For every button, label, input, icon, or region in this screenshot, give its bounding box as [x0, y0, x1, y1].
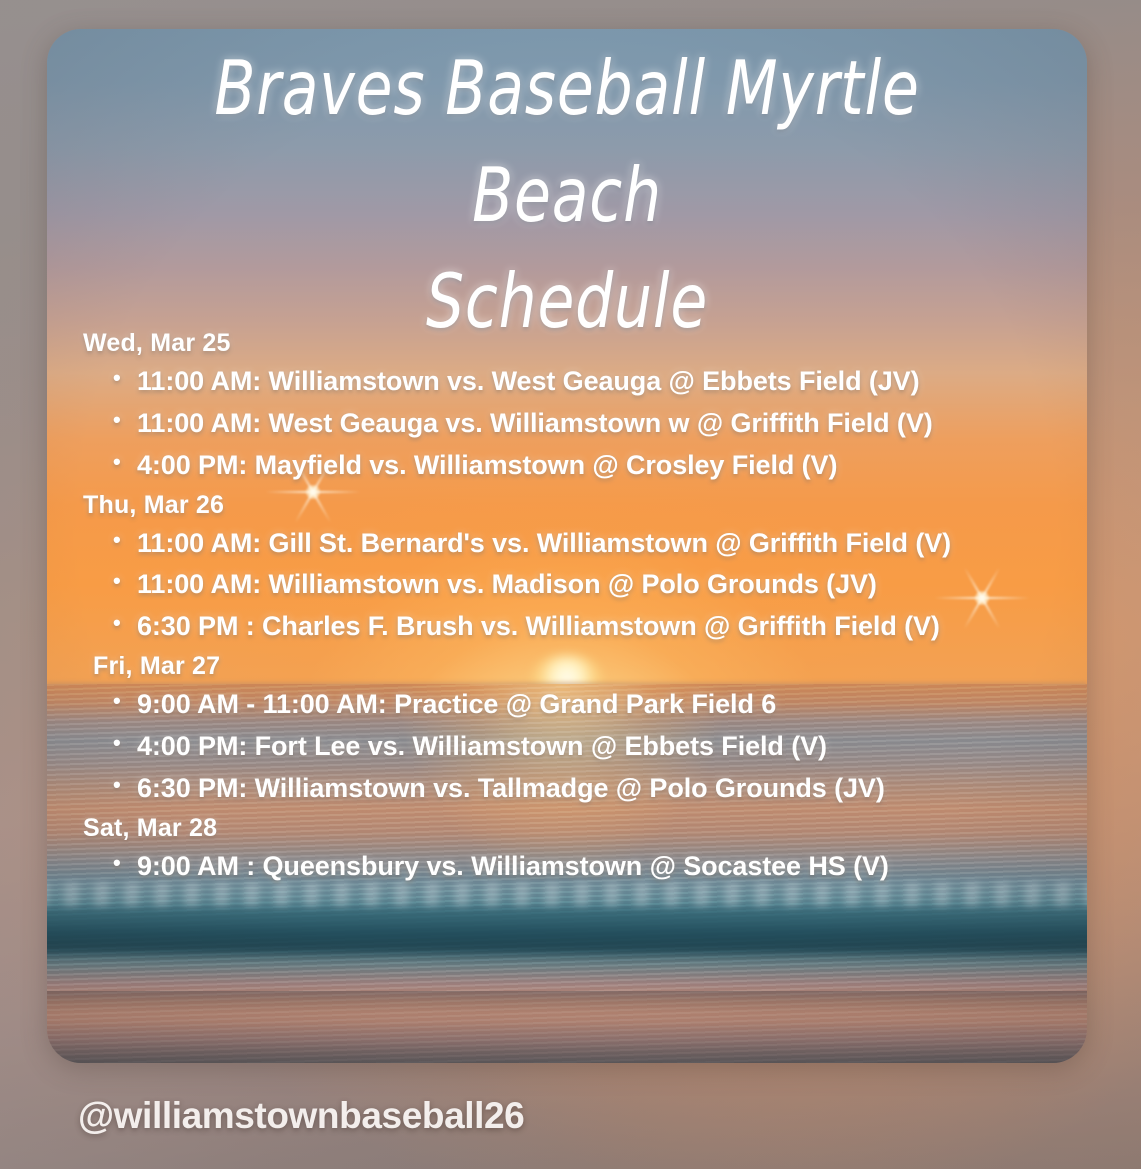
game-entry: 6:30 PM: Williamstown vs. Tallmadge @ Po… [111, 768, 1067, 810]
game-entry: 4:00 PM: Fort Lee vs. Williamstown @ Ebb… [111, 726, 1067, 768]
game-entry: 11:00 AM: West Geauga vs. Williamstown w… [111, 403, 1067, 445]
game-entry: 9:00 AM - 11:00 AM: Practice @ Grand Par… [111, 684, 1067, 726]
game-entry: 4:00 PM: Mayfield vs. Williamstown @ Cro… [111, 445, 1067, 487]
schedule-day-group: Thu, Mar 2611:00 AM: Gill St. Bernard's … [83, 491, 1067, 649]
poster-content: Braves Baseball Myrtle Beach Schedule We… [47, 29, 1087, 1063]
instagram-handle: @williamstownbaseball26 [78, 1095, 524, 1137]
game-entry: 11:00 AM: Williamstown vs. West Geauga @… [111, 361, 1067, 403]
game-entry: 6:30 PM : Charles F. Brush vs. Williamst… [111, 606, 1067, 648]
day-game-list: 9:00 AM - 11:00 AM: Practice @ Grand Par… [83, 684, 1067, 810]
game-entry: 11:00 AM: Williamstown vs. Madison @ Pol… [111, 564, 1067, 606]
day-game-list: 11:00 AM: Williamstown vs. West Geauga @… [83, 361, 1067, 487]
game-entry: 9:00 AM : Queensbury vs. Williamstown @ … [111, 846, 1067, 888]
day-game-list: 11:00 AM: Gill St. Bernard's vs. William… [83, 523, 1067, 649]
schedule-day-group: Sat, Mar 289:00 AM : Queensbury vs. Will… [83, 814, 1067, 888]
day-heading: Thu, Mar 26 [83, 491, 1067, 520]
game-entry: 11:00 AM: Gill St. Bernard's vs. William… [111, 523, 1067, 565]
schedule-day-group: Wed, Mar 2511:00 AM: Williamstown vs. We… [83, 329, 1067, 487]
day-game-list: 9:00 AM : Queensbury vs. Williamstown @ … [83, 846, 1067, 888]
day-heading: Wed, Mar 25 [83, 329, 1067, 358]
schedule-list: Wed, Mar 2511:00 AM: Williamstown vs. We… [83, 329, 1067, 891]
schedule-day-group: Fri, Mar 279:00 AM - 11:00 AM: Practice … [83, 652, 1067, 810]
day-heading: Sat, Mar 28 [83, 814, 1067, 843]
poster-title: Braves Baseball Myrtle Beach Schedule [151, 35, 983, 355]
day-heading: Fri, Mar 27 [83, 652, 1067, 681]
schedule-photo-card: Braves Baseball Myrtle Beach Schedule We… [47, 29, 1087, 1063]
